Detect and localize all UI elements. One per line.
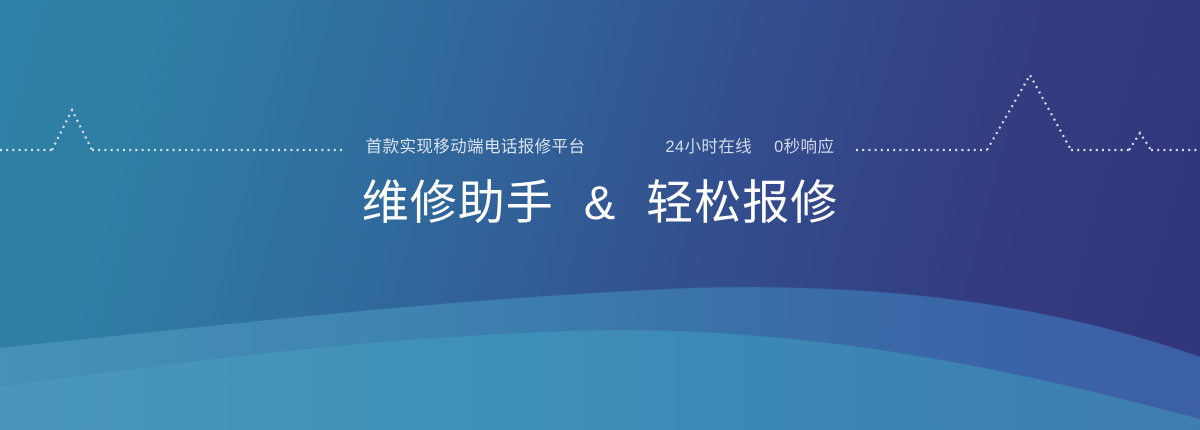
hero-banner: 首款实现移动端电话报修平台 24小时在线 0秒响应 维修助手 & 轻松报修 [0,0,1200,430]
dotted-pulse-line [0,0,1200,430]
pulse-peak-right-large [987,75,1071,150]
pulse-peak-right-small [1129,133,1151,150]
pulse-peak-left [52,110,92,150]
